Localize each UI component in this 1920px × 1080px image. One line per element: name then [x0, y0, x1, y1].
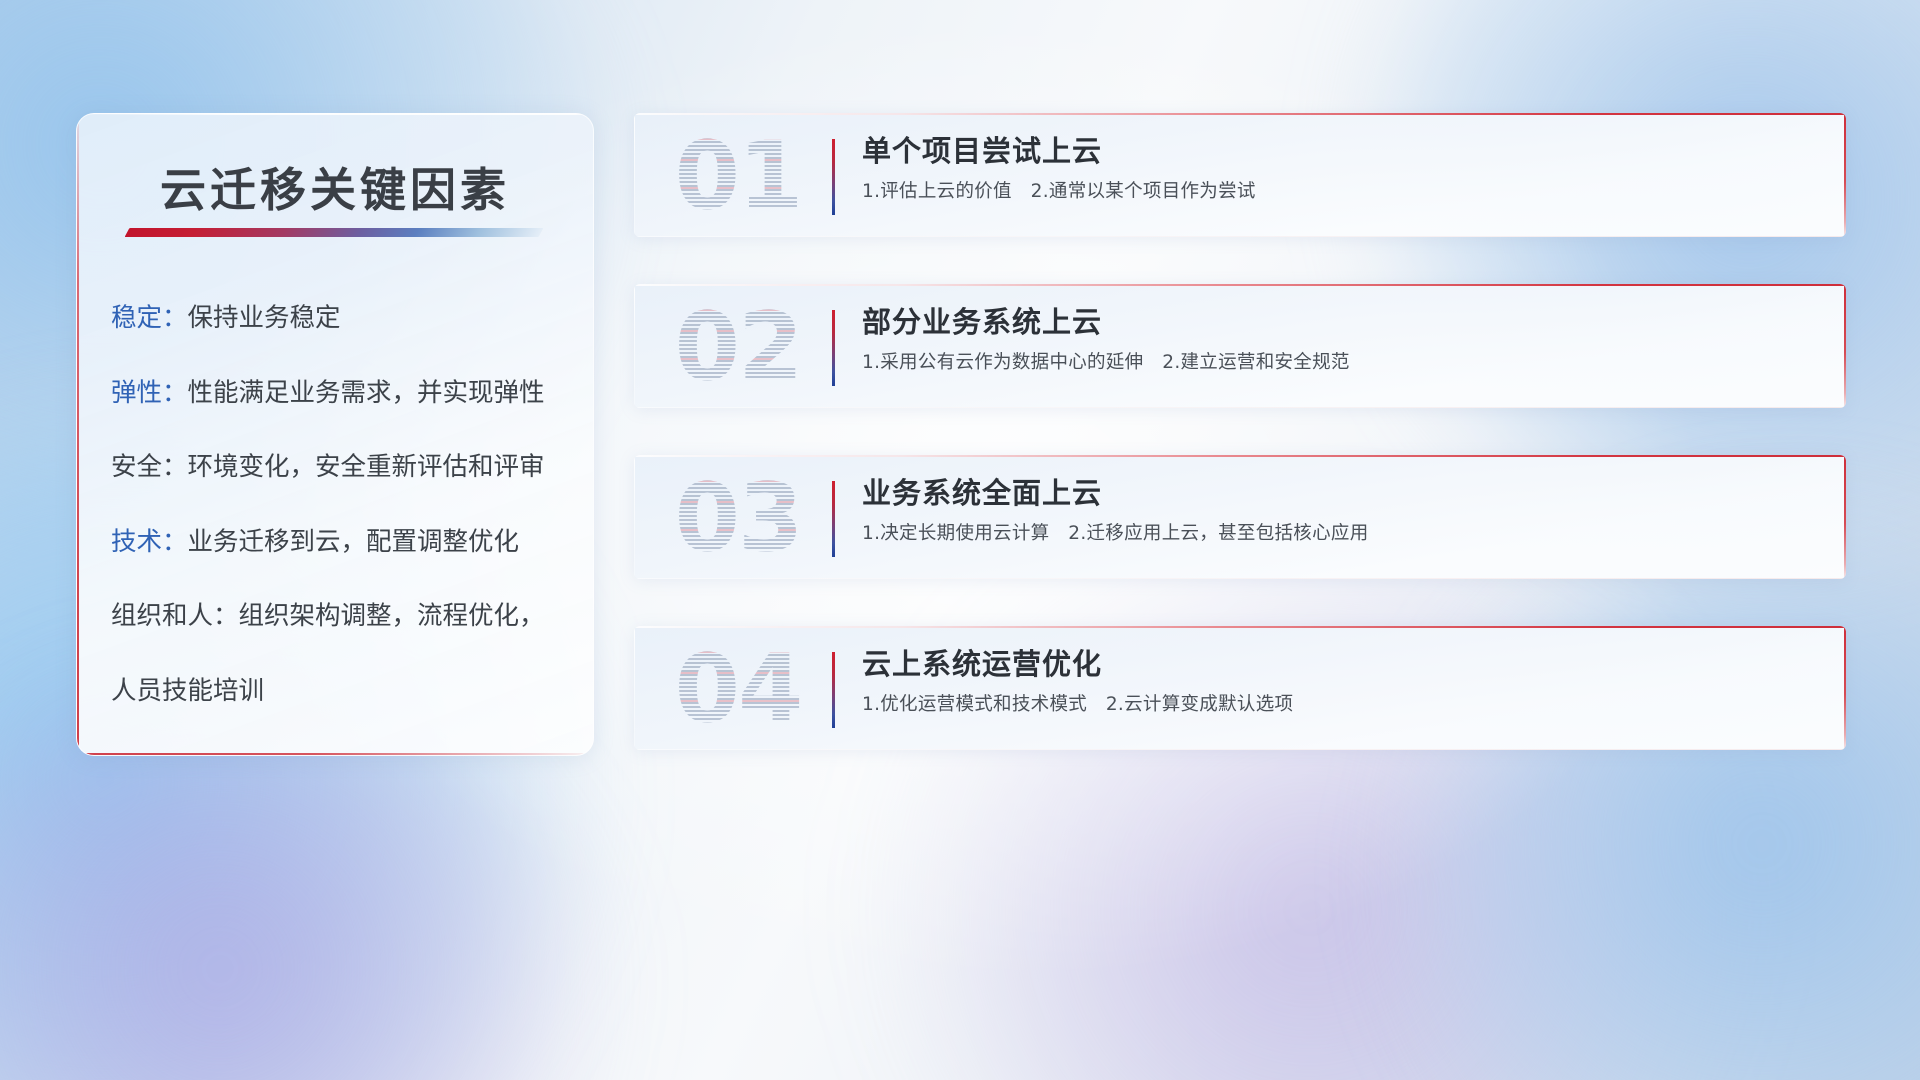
card-body: 业务系统全面上云1.决定长期使用云计算 2.迁移应用上云，甚至包括核心应用: [862, 477, 1816, 546]
card-right-accent-border: [1844, 284, 1846, 408]
factor-text: 业务迁移到云，配置调整优化: [188, 527, 520, 557]
stage-card[interactable]: 0303业务系统全面上云1.决定长期使用云计算 2.迁移应用上云，甚至包括核心应…: [634, 455, 1846, 579]
factor-text: 环境变化，安全重新评估和评审: [188, 452, 545, 482]
card-accent-bar: [832, 481, 835, 557]
card-title: 部分业务系统上云: [862, 306, 1816, 339]
card-description: 1.优化运营模式和技术模式 2.云计算变成默认选项: [862, 694, 1816, 716]
stage-number-ghost-tint: 02: [658, 296, 818, 400]
factor-label: 弹性：: [111, 378, 188, 408]
card-left-highlight: [634, 284, 635, 408]
card-title: 单个项目尝试上云: [862, 135, 1816, 168]
stage-number-ghost-tint: 03: [658, 467, 818, 571]
card-accent-bar: [832, 310, 835, 386]
card-body: 部分业务系统上云1.采用公有云作为数据中心的延伸 2.建立运营和安全规范: [862, 306, 1816, 375]
page-title: 云迁移关键因素: [77, 154, 593, 220]
card-body: 单个项目尝试上云1.评估上云的价值 2.通常以某个项目作为尝试: [862, 135, 1816, 204]
card-left-highlight: [634, 626, 635, 750]
card-left-highlight: [634, 113, 635, 237]
factor-label: 技术：: [111, 527, 188, 557]
card-bottom-highlight: [634, 749, 1846, 750]
factor-row: 弹性：性能满足业务需求，并实现弹性: [111, 381, 569, 407]
card-top-accent-border: [634, 626, 1846, 628]
key-factors-panel: 云迁移关键因素 稳定：保持业务稳定弹性：性能满足业务需求，并实现弹性安全：环境变…: [76, 113, 594, 756]
factor-row: 人员技能培训: [111, 679, 569, 705]
factor-text: 人员技能培训: [111, 676, 264, 706]
stage-card[interactable]: 0101单个项目尝试上云1.评估上云的价值 2.通常以某个项目作为尝试: [634, 113, 1846, 237]
card-description: 1.采用公有云作为数据中心的延伸 2.建立运营和安全规范: [862, 352, 1816, 374]
factor-label: 安全：: [111, 452, 188, 482]
factor-text: 组织架构调整，流程优化，: [239, 601, 545, 631]
card-title: 云上系统运营优化: [862, 648, 1816, 681]
card-title: 业务系统全面上云: [862, 477, 1816, 510]
card-body: 云上系统运营优化1.优化运营模式和技术模式 2.云计算变成默认选项: [862, 648, 1816, 717]
factor-row: 技术：业务迁移到云，配置调整优化: [111, 530, 569, 556]
card-top-accent-border: [634, 455, 1846, 457]
card-description: 1.评估上云的价值 2.通常以某个项目作为尝试: [862, 181, 1816, 203]
factor-row: 安全：环境变化，安全重新评估和评审: [111, 455, 569, 481]
factor-label: 稳定：: [111, 303, 188, 333]
stage-number-ghost-tint: 04: [658, 638, 818, 742]
factor-row: 稳定：保持业务稳定: [111, 306, 569, 332]
factor-label: 组织和人：: [111, 601, 239, 631]
card-accent-bar: [832, 139, 835, 215]
stage-card[interactable]: 0404云上系统运营优化1.优化运营模式和技术模式 2.云计算变成默认选项: [634, 626, 1846, 750]
stage-card[interactable]: 0202部分业务系统上云1.采用公有云作为数据中心的延伸 2.建立运营和安全规范: [634, 284, 1846, 408]
key-factors-list: 稳定：保持业务稳定弹性：性能满足业务需求，并实现弹性安全：环境变化，安全重新评估…: [111, 306, 569, 704]
card-bottom-highlight: [634, 236, 1846, 237]
card-top-accent-border: [634, 113, 1846, 115]
card-bottom-highlight: [634, 578, 1846, 579]
factor-text: 保持业务稳定: [188, 303, 341, 333]
card-right-accent-border: [1844, 626, 1846, 750]
card-top-accent-border: [634, 284, 1846, 286]
card-right-accent-border: [1844, 455, 1846, 579]
card-description: 1.决定长期使用云计算 2.迁移应用上云，甚至包括核心应用: [862, 523, 1816, 545]
card-right-accent-border: [1844, 113, 1846, 237]
factor-text: 性能满足业务需求，并实现弹性: [188, 378, 545, 408]
stage-number-ghost-tint: 01: [658, 125, 818, 229]
card-left-highlight: [634, 455, 635, 579]
title-underline-accent: [125, 228, 544, 237]
migration-stages-list: 0101单个项目尝试上云1.评估上云的价值 2.通常以某个项目作为尝试0202部…: [634, 113, 1846, 750]
factor-row: 组织和人：组织架构调整，流程优化，: [111, 604, 569, 630]
card-accent-bar: [832, 652, 835, 728]
card-bottom-highlight: [634, 407, 1846, 408]
